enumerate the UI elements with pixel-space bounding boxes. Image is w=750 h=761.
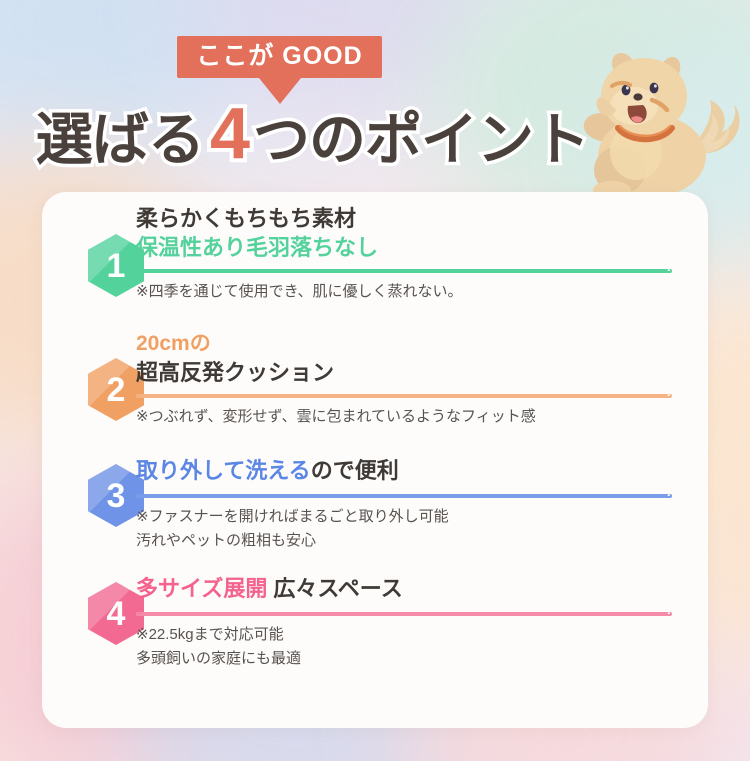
good-badge: ここが GOOD <box>177 36 382 104</box>
point-note: ※四季を通じて使用でき、肌に優しく蒸れない。 <box>136 280 690 304</box>
point-divider <box>136 612 672 616</box>
point-number: 2 <box>107 373 126 407</box>
good-badge-label: ここが GOOD <box>177 36 382 78</box>
point-note: 多頭飼いの家庭にも最適 <box>136 647 690 671</box>
point-note: ※ファスナーを開ければまるごと取り外し可能 <box>136 505 690 529</box>
point-body: 取り外して洗えるので便利 ※ファスナーを開ければまるごと取り外し可能 汚れやペッ… <box>136 456 690 552</box>
point-divider <box>136 394 672 398</box>
point-line-1: 多サイズ展開広々スペース <box>136 574 690 603</box>
point-number: 1 <box>107 249 126 283</box>
point-line-1-tail: 広々スペース <box>273 576 402 601</box>
page-title: 選ばる 4 つのポイント <box>36 97 596 169</box>
point-line-2: 超高反発クッション <box>136 358 690 387</box>
point-body: 柔らかくもちもち素材 保温性あり毛羽落ちなし ※四季を通じて使用でき、肌に優しく… <box>136 204 690 304</box>
point-divider <box>136 494 672 498</box>
point-line-1-accent: 多サイズ展開 <box>136 576 267 601</box>
point-note: ※22.5kgまで対応可能 <box>136 623 690 647</box>
point-line-1: 20cmの <box>136 330 690 358</box>
point-body: 多サイズ展開広々スペース ※22.5kgまで対応可能 多頭飼いの家庭にも最適 <box>136 574 690 670</box>
page-title-number: 4 <box>210 101 249 169</box>
point-line-2: 保温性あり毛羽落ちなし <box>136 233 690 262</box>
point-number: 3 <box>107 479 126 513</box>
points-card: 1 柔らかくもちもち素材 保温性あり毛羽落ちなし ※四季を通じて使用でき、肌に優… <box>42 192 708 728</box>
point-line-1-tail: ので便利 <box>311 458 399 483</box>
point-note: ※つぶれず、変形せず、雲に包まれているようなフィット感 <box>136 405 690 429</box>
point-divider <box>136 269 672 273</box>
point-body: 20cmの 超高反発クッション ※つぶれず、変形せず、雲に包まれているようなフィ… <box>136 330 690 428</box>
point-note: 汚れやペットの粗相も安心 <box>136 529 690 553</box>
point-line-1: 取り外して洗えるので便利 <box>136 456 690 485</box>
point-line-1-accent: 取り外して洗える <box>136 458 311 483</box>
page-title-prefix: 選ばる <box>36 112 204 169</box>
page-title-suffix: つのポイント <box>253 112 589 169</box>
dog-illustration <box>548 44 748 202</box>
point-line-1: 柔らかくもちもち素材 <box>136 204 690 233</box>
point-number: 4 <box>107 597 126 631</box>
